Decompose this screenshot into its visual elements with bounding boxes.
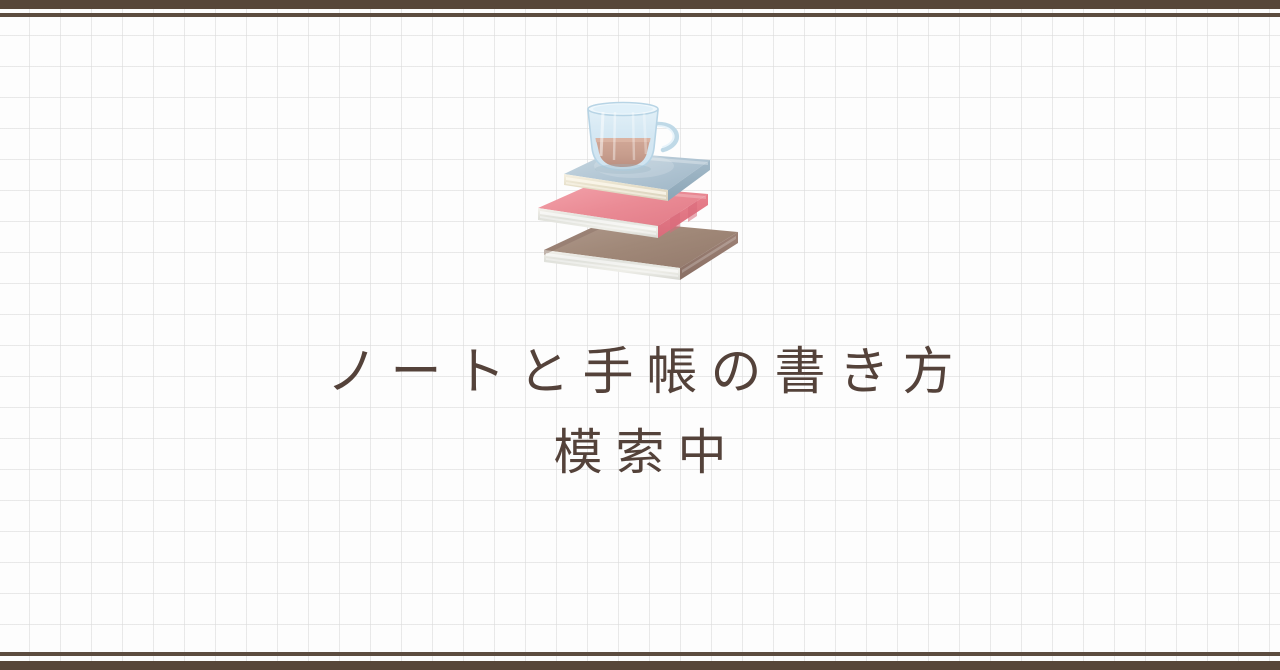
bottom-rule-thin <box>0 652 1280 656</box>
top-rule-thin <box>0 13 1280 17</box>
title-block: ノートと手帳の書き方 模索中 <box>0 343 1280 482</box>
page-title: ノートと手帳の書き方 <box>0 343 1280 401</box>
bottom-rule-thick <box>0 661 1280 670</box>
top-rule-thick <box>0 0 1280 9</box>
illustration-svg <box>530 100 750 295</box>
page-content: ノートと手帳の書き方 模索中 <box>0 0 1280 670</box>
page-subtitle: 模索中 <box>0 426 1280 482</box>
stacked-books-with-teacup-illustration <box>530 100 750 295</box>
